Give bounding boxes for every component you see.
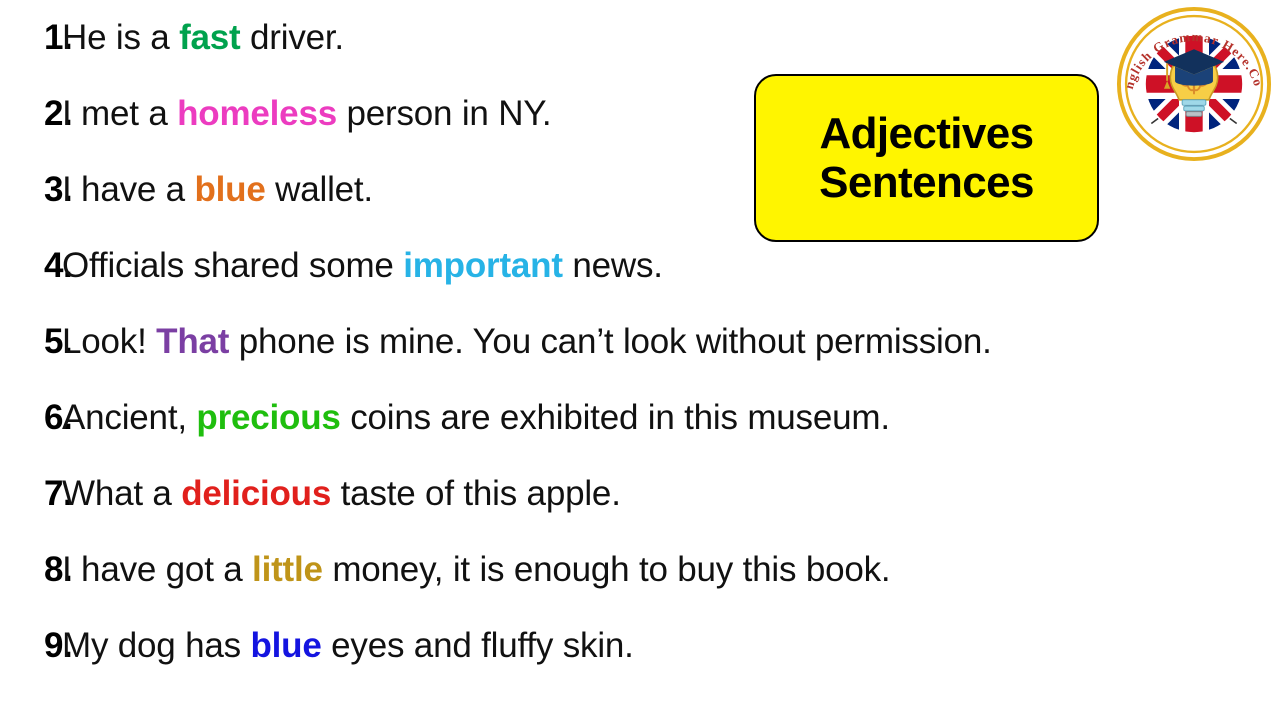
sentence-text-before: Ancient, [62, 398, 196, 437]
sentence-text: What a delicious taste of this apple. [62, 474, 621, 514]
adjective-keyword: important [403, 246, 563, 285]
title-line-1: Adjectives [819, 109, 1033, 158]
sentence-text-after: money, it is enough to buy this book. [323, 550, 891, 589]
sentence-number: 3. [0, 170, 62, 210]
adjective-keyword: precious [196, 398, 340, 437]
sentence-text: I have a blue wallet. [62, 170, 373, 210]
sentence-text-after: eyes and fluffy skin. [322, 626, 634, 665]
sentence-text-before: My dog has [62, 626, 250, 665]
sentence-text: My dog has blue eyes and fluffy skin. [62, 626, 634, 666]
sentence-text-before: I have got a [62, 550, 252, 589]
sentence-row: 4.Officials shared some important news. [0, 246, 1180, 322]
sentence-text: Officials shared some important news. [62, 246, 663, 286]
adjective-keyword: fast [179, 18, 240, 57]
sentence-text: I met a homeless person in NY. [62, 94, 551, 134]
sentence-number: 7. [0, 474, 62, 514]
sentence-number: 6. [0, 398, 62, 438]
sentence-text: Look! That phone is mine. You can’t look… [62, 322, 992, 362]
sentence-row: 5.Look! That phone is mine. You can’t lo… [0, 322, 1180, 398]
adjective-keyword: delicious [181, 474, 331, 513]
sentence-text-after: news. [563, 246, 663, 285]
sentence-text: He is a fast driver. [62, 18, 344, 58]
sentence-text-before: I have a [62, 170, 194, 209]
adjective-keyword: That [156, 322, 229, 361]
logo-svg: English Grammar Here.Com [1115, 5, 1273, 163]
site-logo: English Grammar Here.Com [1115, 5, 1273, 163]
sentence-text-before: I met a [62, 94, 177, 133]
sentence-number: 2. [0, 94, 62, 134]
sentence-text-after: taste of this apple. [331, 474, 621, 513]
sentence-number: 5. [0, 322, 62, 362]
title-line-2: Sentences [819, 158, 1034, 207]
adjective-keyword: little [252, 550, 323, 589]
sentence-text-before: He is a [62, 18, 179, 57]
sentence-row: 9.My dog has blue eyes and fluffy skin. [0, 626, 1180, 702]
sentence-text: Ancient, precious coins are exhibited in… [62, 398, 890, 438]
adjective-keyword: blue [194, 170, 265, 209]
sentence-number: 4. [0, 246, 62, 286]
sentence-text-before: What a [62, 474, 181, 513]
sentence-number: 9. [0, 626, 62, 666]
sentence-text-before: Look! [62, 322, 156, 361]
sentence-text-after: coins are exhibited in this museum. [341, 398, 890, 437]
sentence-text-before: Officials shared some [62, 246, 403, 285]
sentence-row: 7.What a delicious taste of this apple. [0, 474, 1180, 550]
sentence-text-after: wallet. [266, 170, 373, 209]
worksheet-page: 1.He is a fast driver.2.I met a homeless… [0, 0, 1280, 720]
sentence-row: 8.I have got a little money, it is enoug… [0, 550, 1180, 626]
sentence-number: 1. [0, 18, 62, 58]
sentence-text: I have got a little money, it is enough … [62, 550, 890, 590]
adjective-keyword: blue [250, 626, 321, 665]
sentence-number: 8. [0, 550, 62, 590]
adjective-keyword: homeless [177, 94, 337, 133]
sentence-text-after: phone is mine. You can’t look without pe… [229, 322, 991, 361]
sentence-row: 6.Ancient, precious coins are exhibited … [0, 398, 1180, 474]
title-badge: Adjectives Sentences [754, 74, 1099, 242]
sentence-text-after: person in NY. [337, 94, 551, 133]
sentence-text-after: driver. [241, 18, 344, 57]
